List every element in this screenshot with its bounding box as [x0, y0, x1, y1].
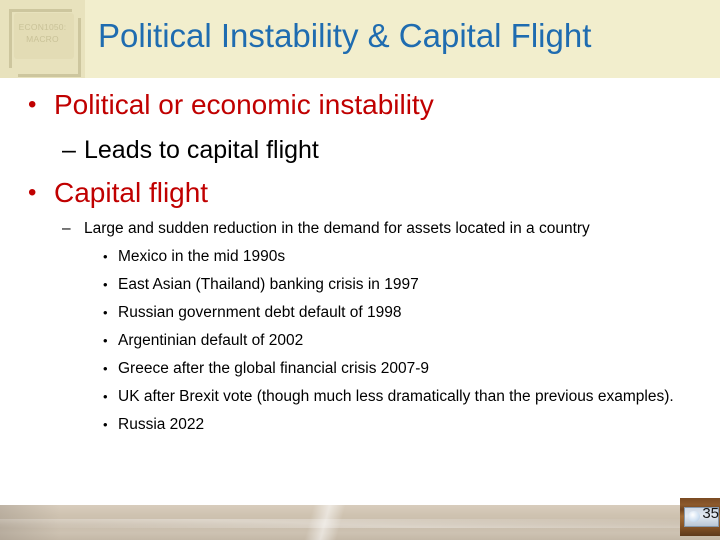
bullet-marker-icon: • — [28, 175, 54, 211]
bullet-text: Capital flight — [54, 175, 720, 211]
list-item-text: UK after Brexit vote (though much less d… — [118, 387, 688, 407]
dash-marker-icon: – — [62, 219, 84, 239]
spacer-2 — [0, 167, 720, 175]
spacer-6 — [0, 295, 720, 303]
bullet-marker-icon: • — [103, 387, 118, 407]
bullet-level2-leads-to-capital-flight: – Leads to capital flight — [0, 133, 720, 167]
spacer-7 — [0, 323, 720, 331]
list-item: • Russia 2022 — [0, 415, 720, 435]
bullet-marker-icon: • — [103, 415, 118, 435]
slide-body: • Political or economic instability – Le… — [0, 78, 720, 505]
list-item-text: Russian government debt default of 1998 — [118, 303, 688, 323]
list-item: • UK after Brexit vote (though much less… — [0, 387, 720, 407]
list-item: • Argentinian default of 2002 — [0, 331, 720, 351]
bullet-marker-icon: • — [103, 247, 118, 267]
spacer-3 — [0, 211, 720, 219]
list-item-text: Mexico in the mid 1990s — [118, 247, 688, 267]
slide-number-thumbnail: 35 — [680, 498, 720, 536]
bullet-text: Political or economic instability — [54, 87, 720, 123]
band-seam — [250, 505, 400, 540]
logo-course-name: MACRO — [0, 34, 85, 44]
list-item-text: Russia 2022 — [118, 415, 688, 435]
bullet-text: Leads to capital flight — [84, 133, 720, 167]
bullet-marker-icon: • — [103, 303, 118, 323]
bullet-marker-icon: • — [103, 359, 118, 379]
bullet-marker-icon: • — [103, 331, 118, 351]
bullet-text: Large and sudden reduction in the demand… — [84, 219, 664, 239]
thumbnail-oval-icon — [688, 511, 700, 522]
list-item: • Greece after the global financial cris… — [0, 359, 720, 379]
bullet-level1-instability: • Political or economic instability — [0, 87, 720, 123]
bullet-level2-definition: – Large and sudden reduction in the dema… — [0, 219, 720, 239]
page-title: Political Instability & Capital Flight — [98, 14, 712, 58]
course-logo: ECON1050: MACRO — [0, 0, 85, 78]
list-item: • East Asian (Thailand) banking crisis i… — [0, 275, 720, 295]
list-item: • Russian government debt default of 199… — [0, 303, 720, 323]
slide-number: 35 — [702, 506, 719, 522]
bullet-marker-icon: • — [28, 87, 54, 123]
bullet-level1-capital-flight: • Capital flight — [0, 175, 720, 211]
bullet-marker-icon: • — [103, 275, 118, 295]
footer-decorative-band — [0, 505, 720, 540]
logo-course-code: ECON1050: — [0, 22, 85, 32]
dash-marker-icon: – — [62, 133, 84, 167]
spacer-1 — [0, 123, 720, 133]
list-item: • Mexico in the mid 1990s — [0, 247, 720, 267]
spacer-top — [0, 78, 720, 87]
title-band: ECON1050: MACRO Political Instability & … — [0, 0, 720, 78]
slide-canvas: ECON1050: MACRO Political Instability & … — [0, 0, 720, 540]
list-item-text: Greece after the global financial crisis… — [118, 359, 688, 379]
spacer-9 — [0, 379, 720, 387]
spacer-4 — [0, 239, 720, 247]
spacer-10 — [0, 407, 720, 415]
list-item-text: East Asian (Thailand) banking crisis in … — [118, 275, 688, 295]
spacer-8 — [0, 351, 720, 359]
list-item-text: Argentinian default of 2002 — [118, 331, 688, 351]
spacer-5 — [0, 267, 720, 275]
